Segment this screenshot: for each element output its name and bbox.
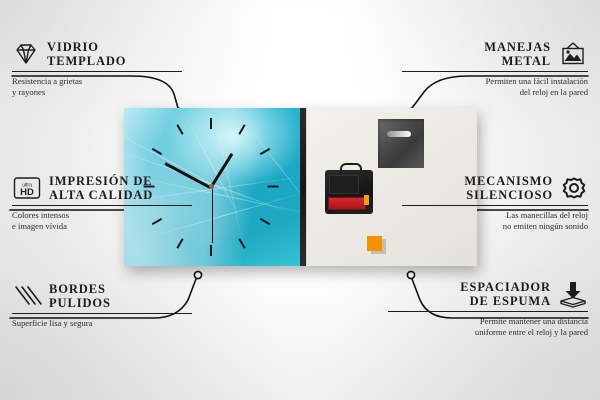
clock-tick bbox=[176, 238, 183, 249]
feature-title-line2: ALTA CALIDAD bbox=[49, 188, 153, 202]
feature-desc-line1: Permiten una fácil instalación bbox=[402, 76, 588, 87]
metal-hanger-plate bbox=[378, 119, 424, 168]
feature-bordes-pulidos: BORDES PULIDOS Superficie lisa y segura bbox=[12, 282, 192, 329]
hanger-keyhole bbox=[387, 131, 411, 137]
clock-tick bbox=[260, 218, 271, 225]
feature-desc-line2: no emiten ningún sonido bbox=[402, 221, 588, 232]
clock-tick bbox=[210, 245, 212, 256]
picture-frame-icon bbox=[558, 41, 588, 67]
feature-heading: MANEJAS METAL bbox=[402, 40, 588, 68]
feature-title-line2: METAL bbox=[484, 54, 551, 68]
diamond-icon bbox=[12, 42, 40, 66]
clock-center-pin bbox=[209, 184, 214, 189]
feature-espaciador-espuma: ESPACIADOR DE ESPUMA Permite mantener un… bbox=[388, 280, 588, 337]
feature-divider bbox=[402, 71, 588, 72]
feature-title-line1: IMPRESIÓN DE bbox=[49, 174, 153, 188]
feature-desc-line2: del reloj en la pared bbox=[402, 87, 588, 98]
feature-desc-line1: Permite mantener una distancia bbox=[388, 316, 588, 327]
product-infographic: VIDRIO TEMPLADO Resistencia a grietas y … bbox=[0, 0, 600, 400]
feature-heading: MECANISMO SILENCIOSO bbox=[402, 174, 588, 202]
battery-tip bbox=[364, 195, 369, 205]
feature-title-line1: MANEJAS bbox=[484, 40, 551, 54]
connector-dot bbox=[407, 271, 414, 278]
feature-title-line1: BORDES bbox=[49, 282, 111, 296]
gear-icon bbox=[560, 175, 588, 201]
feature-title-line1: VIDRIO bbox=[47, 40, 126, 54]
mechanism-hook bbox=[340, 163, 362, 174]
svg-text:HD: HD bbox=[20, 187, 34, 198]
feature-title-line2: SILENCIOSO bbox=[464, 188, 553, 202]
feature-divider bbox=[402, 205, 588, 206]
ultra-hd-icon: ultra HD bbox=[12, 175, 42, 201]
clock-tick bbox=[238, 124, 245, 135]
feature-title-line2: DE ESPUMA bbox=[460, 294, 551, 308]
feature-heading: ultra HD IMPRESIÓN DE ALTA CALIDAD bbox=[12, 174, 192, 202]
feature-divider bbox=[12, 71, 182, 72]
feature-heading: VIDRIO TEMPLADO bbox=[12, 40, 182, 68]
feature-divider bbox=[388, 311, 588, 312]
feature-desc-line1: Colores intensos bbox=[12, 210, 192, 221]
feature-desc-line2: uniforme entre el reloj y la pared bbox=[388, 327, 588, 338]
feature-title-line1: ESPACIADOR bbox=[460, 280, 551, 294]
feature-heading: BORDES PULIDOS bbox=[12, 282, 192, 310]
clock-tick bbox=[268, 186, 279, 188]
feature-impresion-alta-calidad: ultra HD IMPRESIÓN DE ALTA CALIDAD Color… bbox=[12, 174, 192, 231]
foam-spacer bbox=[367, 236, 382, 251]
feature-mecanismo-silencioso: MECANISMO SILENCIOSO Las manecillas del … bbox=[402, 174, 588, 231]
connector-dot bbox=[194, 271, 201, 278]
feature-title-line1: MECANISMO bbox=[464, 174, 553, 188]
feature-title-line2: PULIDOS bbox=[49, 296, 111, 310]
arrow-down-pad-icon bbox=[558, 280, 588, 308]
clock-tick bbox=[210, 118, 212, 129]
feature-desc-line1: Resistencia a grietas bbox=[12, 76, 182, 87]
feature-desc-line1: Las manecillas del reloj bbox=[402, 210, 588, 221]
battery bbox=[328, 197, 366, 210]
feature-heading: ESPACIADOR DE ESPUMA bbox=[388, 280, 588, 308]
feature-title-line2: TEMPLADO bbox=[47, 54, 126, 68]
feature-vidrio-templado: VIDRIO TEMPLADO Resistencia a grietas y … bbox=[12, 40, 182, 97]
feature-manejas-metal: MANEJAS METAL Permiten una fácil instala… bbox=[402, 40, 588, 97]
diagonal-lines-icon bbox=[12, 284, 42, 308]
feature-divider bbox=[12, 313, 192, 314]
clock-second-hand bbox=[212, 187, 213, 243]
clock-tick bbox=[176, 124, 183, 135]
feature-desc-line2: y rayones bbox=[12, 87, 182, 98]
feature-divider bbox=[12, 205, 192, 206]
feature-desc-line1: Superficie lisa y segura bbox=[12, 318, 192, 329]
feature-desc-line2: e imagen vívida bbox=[12, 221, 192, 232]
mechanism-panel bbox=[329, 175, 359, 194]
clock-mechanism bbox=[325, 170, 373, 214]
